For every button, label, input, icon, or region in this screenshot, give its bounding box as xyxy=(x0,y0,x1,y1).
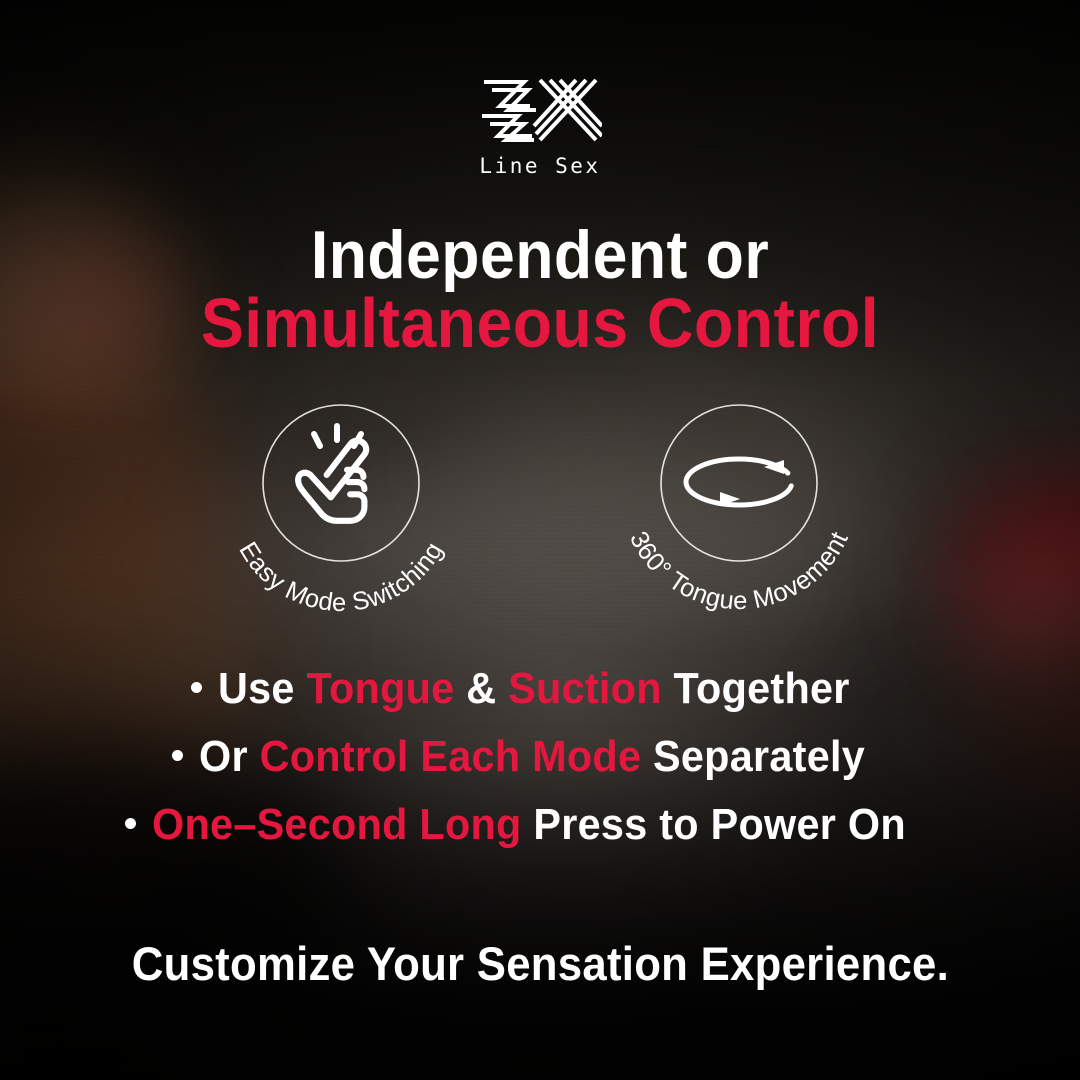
list-item: Or Control Each Mode Separately xyxy=(0,732,1080,782)
tap-hand-icon xyxy=(298,440,366,520)
promo-graphic: Line Sex Independent or Simultaneous Con… xyxy=(0,0,1080,1080)
feature-badges: Easy Mode Switching xyxy=(0,378,1080,628)
headline-line-2: Simultaneous Control xyxy=(43,289,1037,358)
list-item: One–Second Long Press to Power On xyxy=(0,800,1080,850)
bullet-marker-icon xyxy=(191,682,202,693)
bullet-marker-icon xyxy=(172,750,183,761)
badge-360-tongue-movement: 360° Tongue Movement xyxy=(614,378,864,628)
list-item: Use Tongue & Suction Together xyxy=(0,664,1080,714)
badge-label: 360° Tongue Movement xyxy=(624,527,854,615)
badge-label: Easy Mode Switching xyxy=(233,537,448,617)
bullet-text: One–Second Long Press to Power On xyxy=(152,800,906,850)
brand-wordmark: Line Sex xyxy=(479,154,600,178)
tap-spark-icon xyxy=(314,426,361,446)
bullet-text: Use Tongue & Suction Together xyxy=(218,664,850,714)
brand-logo: Line Sex xyxy=(0,72,1080,178)
bullet-text: Or Control Each Mode Separately xyxy=(199,732,865,782)
badge-easy-mode-switching: Easy Mode Switching xyxy=(216,378,466,628)
sx-monogram-icon xyxy=(478,72,602,146)
rotation-360-icon xyxy=(686,459,792,506)
feature-bullet-list: Use Tongue & Suction Together Or Control… xyxy=(0,664,1080,868)
footer-tagline: Customize Your Sensation Experience. xyxy=(0,936,1080,991)
headline-line-1: Independent or xyxy=(43,222,1037,289)
bullet-marker-icon xyxy=(125,818,136,829)
footer-text: Customize Your Sensation Experience. xyxy=(131,936,948,991)
page-title: Independent or Simultaneous Control xyxy=(0,222,1080,357)
